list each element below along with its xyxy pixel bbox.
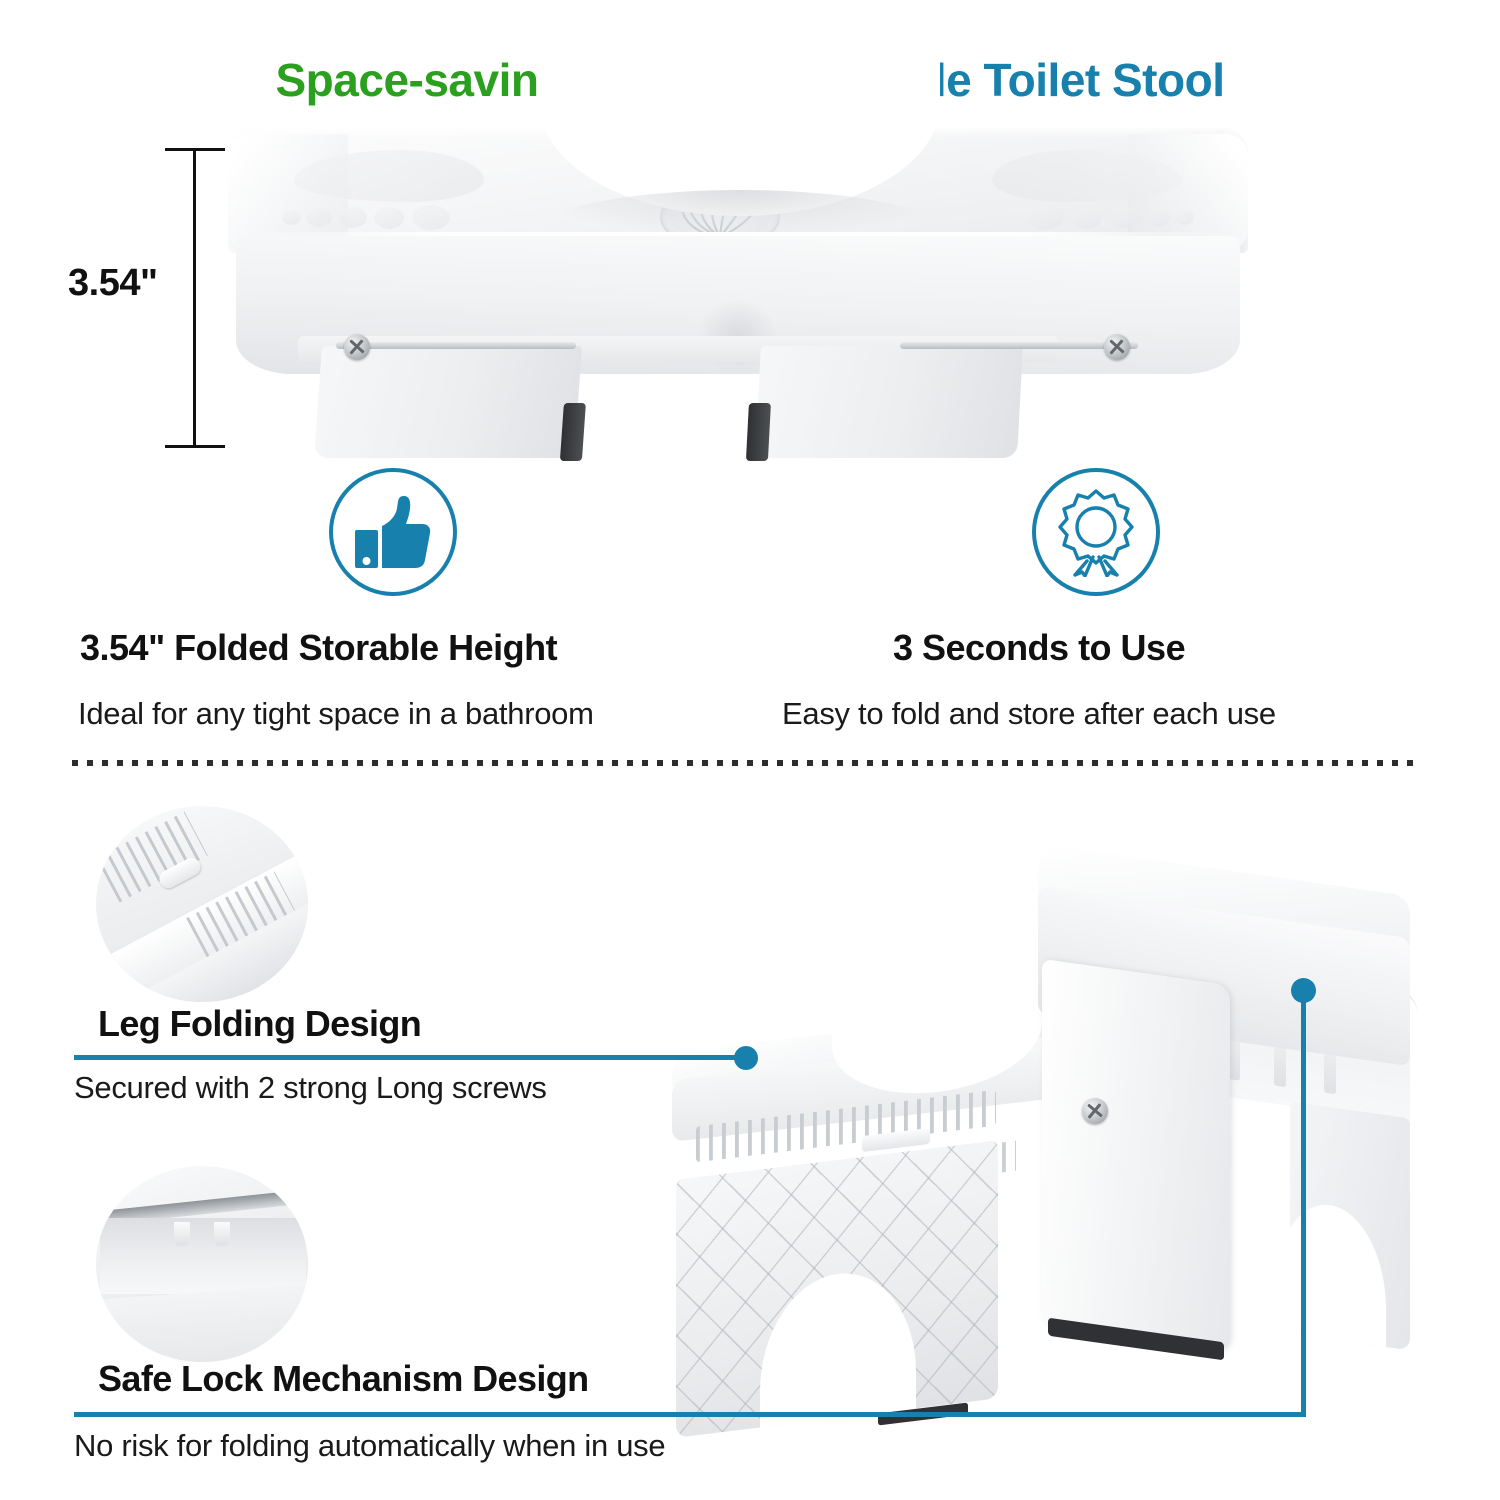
folded-stool-image <box>228 128 1248 458</box>
callout-2-subtitle: No risk for folding automatically when i… <box>74 1428 665 1464</box>
hinge-rail-left <box>336 342 576 349</box>
callout-1-subtitle: Secured with 2 strong Long screws <box>74 1070 547 1106</box>
infographic-canvas: Space-saving & Secure Foldable Toilet St… <box>0 0 1500 1500</box>
callout-1-leader-line <box>74 1055 746 1060</box>
dotted-divider <box>72 760 1422 766</box>
rear-leg-underside <box>676 1140 998 1438</box>
feature-1-title: 3.54" Folded Storable Height <box>80 627 557 669</box>
callout-2-leader-line-horizontal <box>74 1412 1306 1417</box>
feature-1-subtitle: Ideal for any tight space in a bathroom <box>78 696 594 732</box>
unfolded-stool-image <box>650 860 1410 1420</box>
feature-2-subtitle: Easy to fold and store after each use <box>782 696 1276 732</box>
hinge-screw-left <box>344 334 370 360</box>
footprint-texture-right <box>966 150 1196 232</box>
feature-2-title: 3 Seconds to Use <box>893 627 1185 669</box>
callout-2-leader-line-vertical <box>1301 998 1306 1417</box>
folded-leg-right <box>755 346 1023 458</box>
callout-1-title: Leg Folding Design <box>98 1003 421 1045</box>
front-leg <box>1042 959 1230 1353</box>
hinge-teeth-thumbnail <box>96 806 308 1002</box>
dimension-marker <box>165 148 225 448</box>
right-leg <box>1290 1102 1410 1351</box>
callout-2-title: Safe Lock Mechanism Design <box>98 1358 589 1400</box>
callout-2-pointer-dot <box>1291 978 1316 1003</box>
dimension-label: 3.54" <box>68 262 157 305</box>
hinge-screw-right <box>1104 334 1130 360</box>
folded-leg-left <box>314 346 582 458</box>
leg-foot-pad-right <box>746 403 771 461</box>
thumbs-up-icon <box>329 468 457 596</box>
joint-screw <box>1082 1098 1108 1124</box>
callout-1-pointer-dot <box>734 1046 758 1070</box>
award-ribbon-icon <box>1032 468 1160 596</box>
dimension-line <box>193 148 196 448</box>
leg-foot-pad-left <box>560 403 586 461</box>
hinge-rail-right <box>900 342 1138 349</box>
footprint-texture-left <box>280 150 510 232</box>
safe-lock-thumbnail <box>96 1166 308 1362</box>
dimension-cap-bottom <box>165 445 225 448</box>
